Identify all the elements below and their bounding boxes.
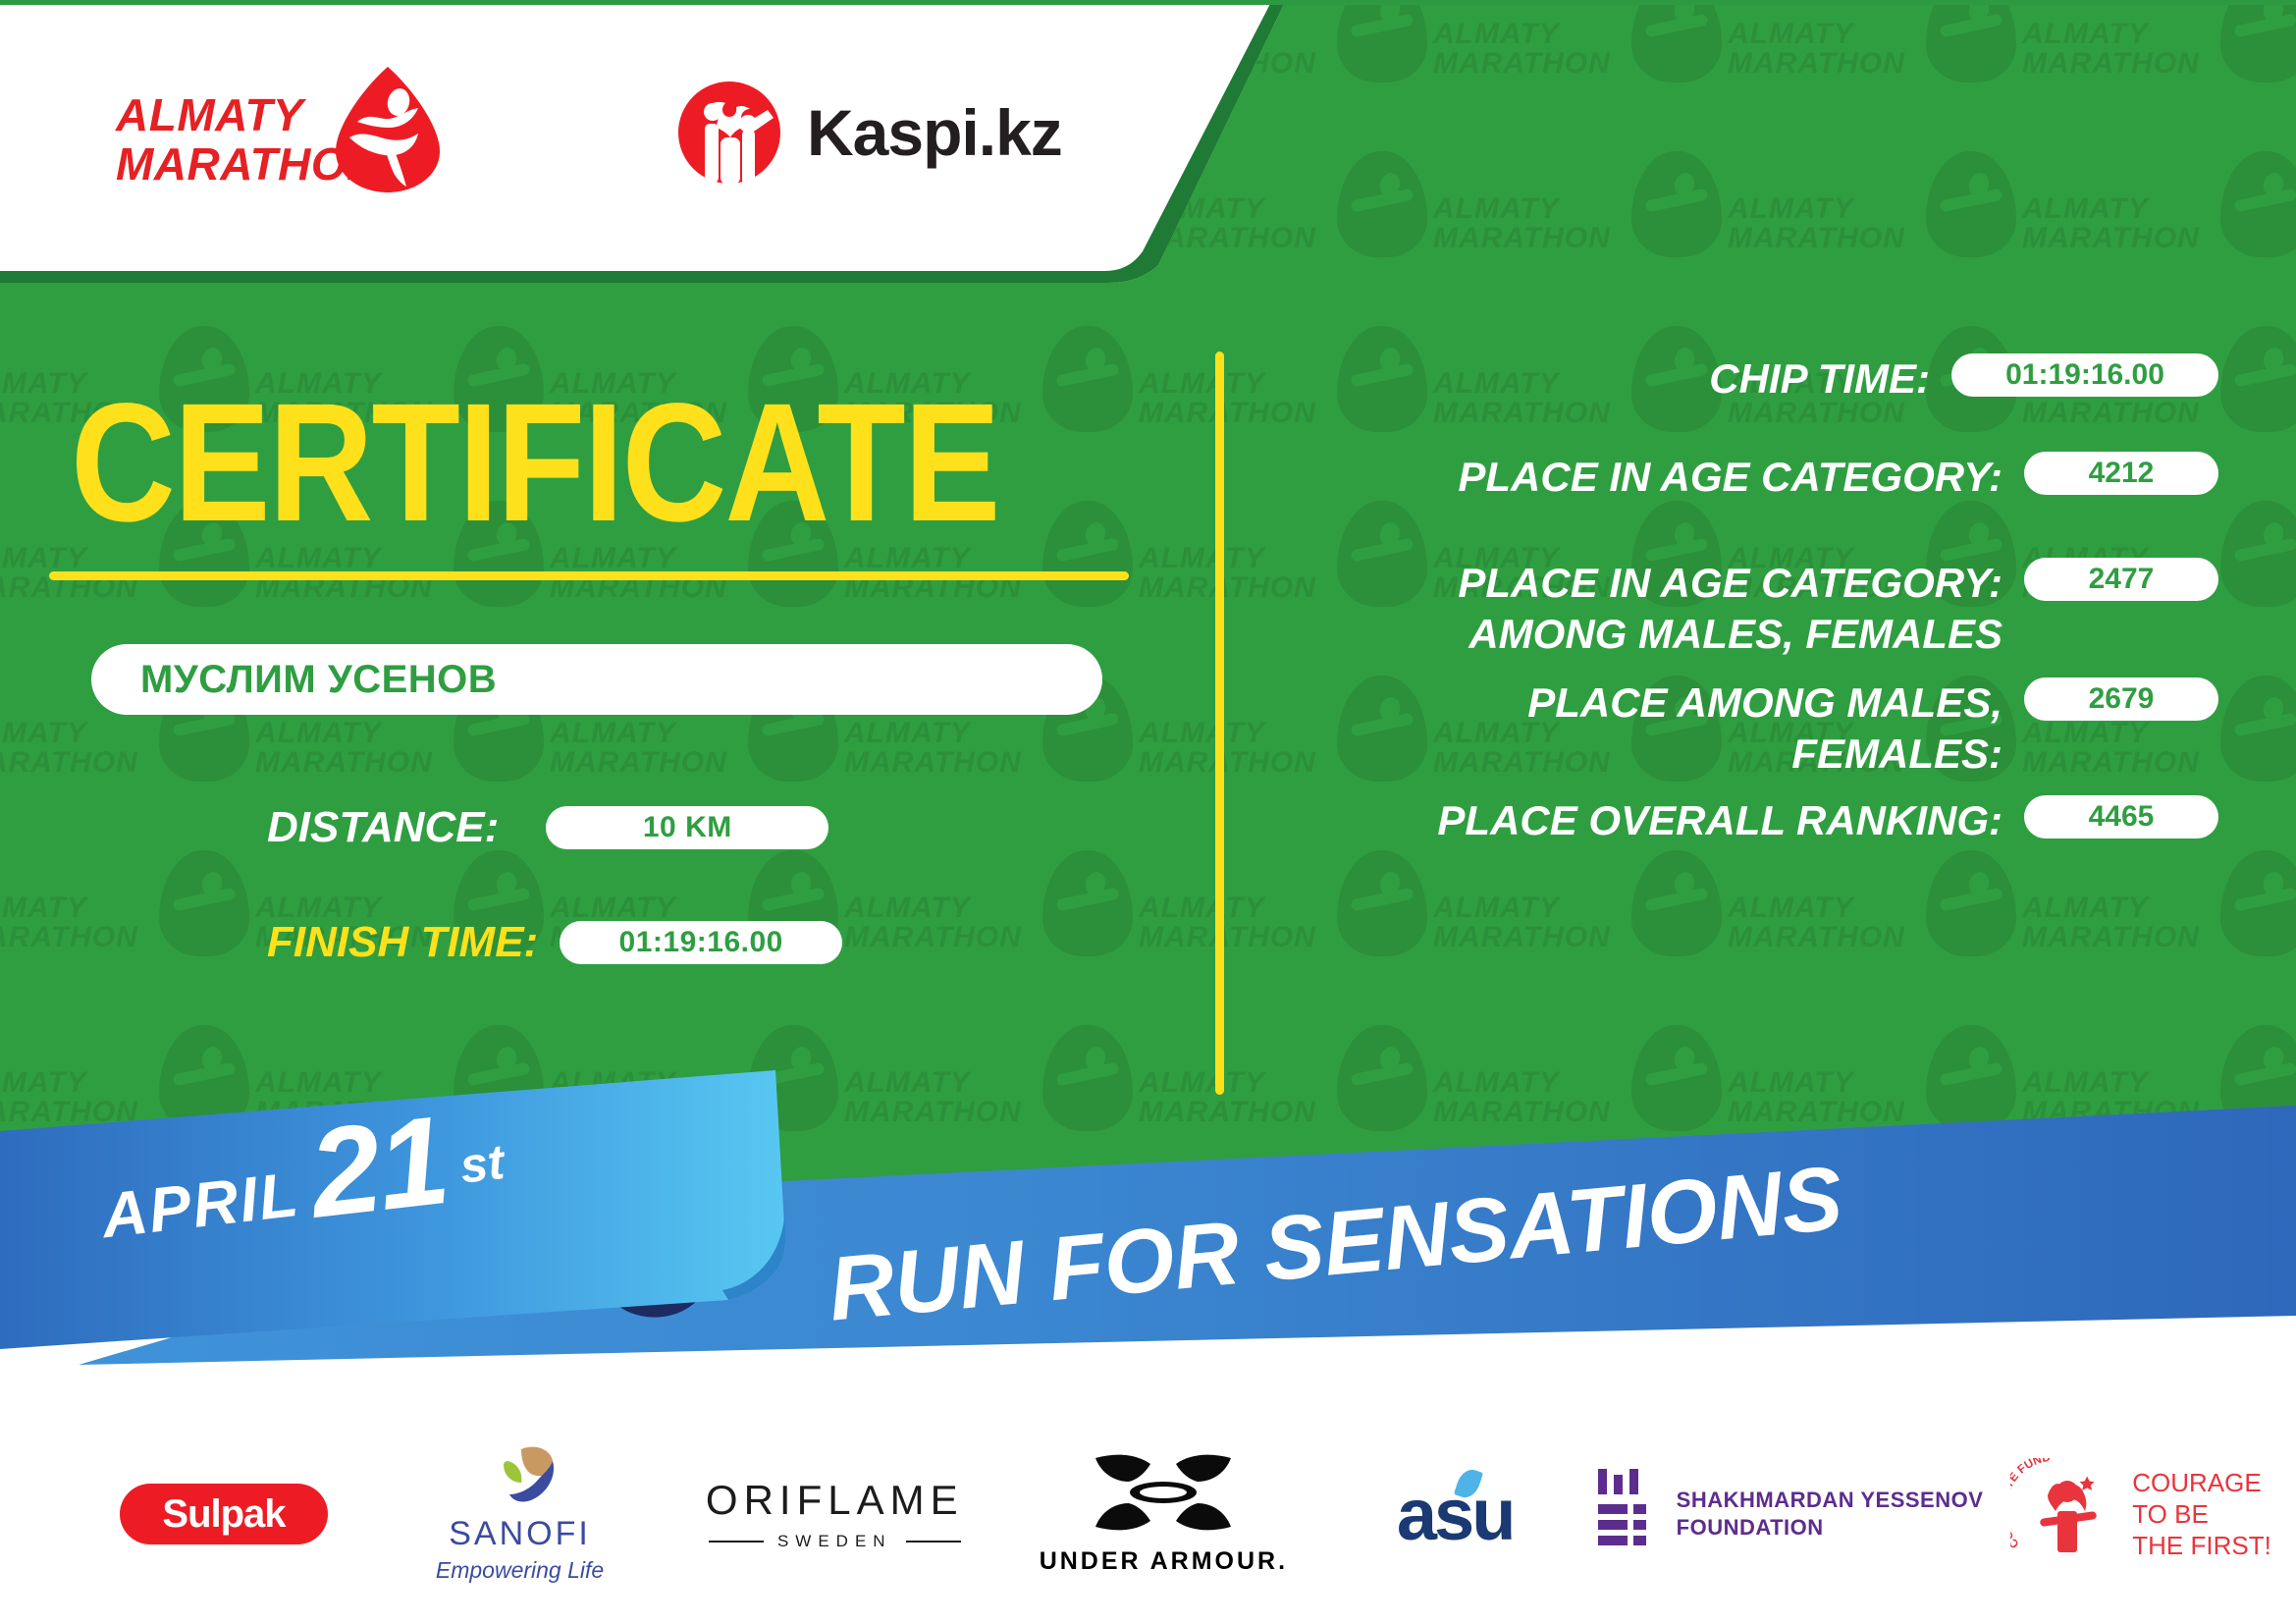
- yessenov-wordmark: SHAKHMARDAN YESSENOV FOUNDATION: [1677, 1487, 1984, 1542]
- distance-value: 10 KM: [546, 806, 828, 849]
- courage-child-icon: CORPORATE FUND: [2010, 1458, 2118, 1571]
- watermark-drop-icon: [2220, 676, 2296, 782]
- participant-name: МУСЛИМ УСЕНОВ: [140, 658, 497, 702]
- sponsor-sanofi: SANOFI Empowering Life: [379, 1426, 661, 1602]
- watermark-drop-icon: [2220, 151, 2296, 257]
- distance-row: DISTANCE: 10 KM: [267, 803, 828, 852]
- watermark-text: ALMATY MARATHON: [1728, 194, 1934, 253]
- watermark-tile: ALMATY MARATHON: [2022, 4, 2296, 146]
- header-logos: ALMATY MARATHON: [0, 0, 1286, 277]
- watermark-text: ALMATY MARATHON: [1433, 194, 1639, 253]
- sanofi-wordmark: SANOFI: [449, 1515, 591, 1553]
- watermark-tile: ALMATY MARATHON: [2022, 848, 2296, 1020]
- result-label: CHIP TIME:: [1276, 353, 1951, 405]
- result-row: CHIP TIME:01:19:16.00: [1276, 353, 2218, 405]
- watermark-tile: ALMATY MARATHON: [1728, 4, 2022, 146]
- finish-time-row: FINISH TIME: 01:19:16.00: [267, 918, 842, 967]
- sponsor-asu: asu: [1318, 1426, 1591, 1602]
- yessenov-mark-icon: [1594, 1467, 1655, 1562]
- watermark-drop-icon: [1926, 4, 2016, 82]
- event-day: 21: [305, 1108, 453, 1228]
- result-row: PLACE OVERALL RANKING:4465: [1276, 795, 2218, 846]
- watermark-drop-icon: [1631, 850, 1722, 956]
- oriflame-sweden-text: SWEDEN: [777, 1532, 892, 1551]
- page-title: CERTIFICATE: [71, 378, 998, 549]
- result-row: PLACE AMONG MALES, FEMALES:2679: [1276, 677, 2218, 780]
- under-armour-icon: [1090, 1452, 1237, 1538]
- vertical-divider: [1215, 352, 1224, 1095]
- watermark-text: ALMATY MARATHON: [1433, 20, 1639, 79]
- watermark-drop-icon: [2220, 326, 2296, 432]
- watermark-drop-icon: [1631, 151, 1722, 257]
- title-underline: [49, 571, 1129, 580]
- watermark-text: ALMATY MARATHON: [2022, 893, 2228, 952]
- distance-label: DISTANCE:: [267, 803, 499, 852]
- watermark-text: ALMATY MARATHON: [2022, 194, 2228, 253]
- courage-line2: TO BE: [2132, 1498, 2271, 1530]
- result-label: PLACE IN AGE CATEGORY:: [1276, 452, 2024, 503]
- asu-text: asu: [1397, 1474, 1514, 1555]
- watermark-text: ALMATY MARATHON: [1728, 893, 1934, 952]
- kaspi-people-circle-icon: [677, 81, 781, 185]
- watermark-drop-icon: [2220, 850, 2296, 956]
- watermark-drop-icon: [1337, 151, 1427, 257]
- sponsor-bar: Sulpak SANOFI Empowering Life ORIFLAME S…: [0, 1404, 2296, 1624]
- result-value: 4465: [2024, 795, 2218, 839]
- almaty-marathon-runner-drop-icon: [334, 65, 442, 194]
- under-armour-wordmark: UNDER ARMOUR.: [1040, 1547, 1288, 1576]
- watermark-text: ALMATY MARATHON: [1728, 20, 1934, 79]
- watermark-drop-icon: [2220, 4, 2296, 82]
- result-value: 4212: [2024, 452, 2218, 495]
- watermark-drop-icon: [1926, 151, 2016, 257]
- sanofi-mark-icon: [482, 1445, 559, 1511]
- yessenov-line1: SHAKHMARDAN YESSENOV: [1677, 1487, 1984, 1514]
- participant-name-field: МУСЛИМ УСЕНОВ: [91, 644, 1102, 715]
- yessenov-line2: FOUNDATION: [1677, 1514, 1984, 1542]
- result-label: PLACE AMONG MALES, FEMALES:: [1276, 677, 2024, 780]
- finish-time-value: 01:19:16.00: [560, 921, 842, 964]
- sulpak-logo: Sulpak: [120, 1484, 328, 1544]
- watermark-tile: ALMATY MARATHON: [1139, 848, 1433, 1020]
- watermark-tile: ALMATY MARATHON: [1728, 848, 2022, 1020]
- watermark-tile: ALMATY MARATHON: [1433, 848, 1728, 1020]
- courage-wordmark: COURAGE TO BE THE FIRST!: [2132, 1467, 2271, 1561]
- watermark-tile: ALMATY MARATHON: [1433, 4, 1728, 146]
- watermark-drop-icon: [1337, 850, 1427, 956]
- courage-line1: COURAGE: [2132, 1467, 2271, 1498]
- sponsor-courage-fund: CORPORATE FUND COURAGE TO BE THE FIRST!: [1986, 1426, 2296, 1602]
- oriflame-wordmark: ORIFLAME: [706, 1477, 964, 1524]
- result-label: PLACE OVERALL RANKING:: [1276, 795, 2024, 846]
- sponsor-oriflame: ORIFLAME SWEDEN: [661, 1426, 1008, 1602]
- courage-line3: THE FIRST!: [2132, 1530, 2271, 1561]
- oriflame-rule-right: [906, 1541, 961, 1543]
- watermark-text: ALMATY MARATHON: [2022, 20, 2228, 79]
- watermark-tile: ALMATY MARATHON: [1433, 149, 1728, 321]
- finish-time-label: FINISH TIME:: [267, 918, 538, 967]
- kaspi-wordmark: Kaspi.kz: [807, 95, 1062, 170]
- sponsor-under-armour: UNDER ARMOUR.: [1008, 1426, 1318, 1602]
- watermark-drop-icon: [2220, 501, 2296, 607]
- result-value: 2679: [2024, 677, 2218, 721]
- watermark-text: ALMATY MARATHON: [1433, 893, 1639, 952]
- almaty-marathon-logo: ALMATY MARATHON: [116, 65, 440, 202]
- svg-text:CORPORATE FUND: CORPORATE FUND: [2010, 1458, 2052, 1551]
- watermark-drop-icon: [1337, 4, 1427, 82]
- watermark-drop-icon: [1631, 4, 1722, 82]
- kaspi-logo: Kaspi.kz: [677, 79, 1062, 187]
- watermark-tile: ALMATY MARATHON: [2022, 149, 2296, 321]
- sponsor-yessenov-foundation: SHAKHMARDAN YESSENOV FOUNDATION: [1591, 1426, 1986, 1602]
- sanofi-tagline: Empowering Life: [436, 1557, 604, 1584]
- watermark-tile: ALMATY MARATHON: [1728, 149, 2022, 321]
- result-row: PLACE IN AGE CATEGORY: AMONG MALES, FEMA…: [1276, 558, 2218, 660]
- sponsor-sulpak: Sulpak: [69, 1426, 379, 1602]
- result-value: 2477: [2024, 558, 2218, 601]
- oriflame-subline: SWEDEN: [661, 1532, 1008, 1551]
- result-row: PLACE IN AGE CATEGORY:4212: [1276, 452, 2218, 503]
- oriflame-rule-left: [709, 1541, 764, 1543]
- top-green-rule: [0, 0, 2296, 5]
- certificate-canvas: ALMATY MARATHONALMATY MARATHONALMATY MAR…: [0, 0, 2296, 1624]
- asu-wordmark: asu: [1397, 1473, 1514, 1556]
- result-label: PLACE IN AGE CATEGORY: AMONG MALES, FEMA…: [1276, 558, 2024, 660]
- result-value: 01:19:16.00: [1951, 353, 2218, 397]
- watermark-drop-icon: [1926, 850, 2016, 956]
